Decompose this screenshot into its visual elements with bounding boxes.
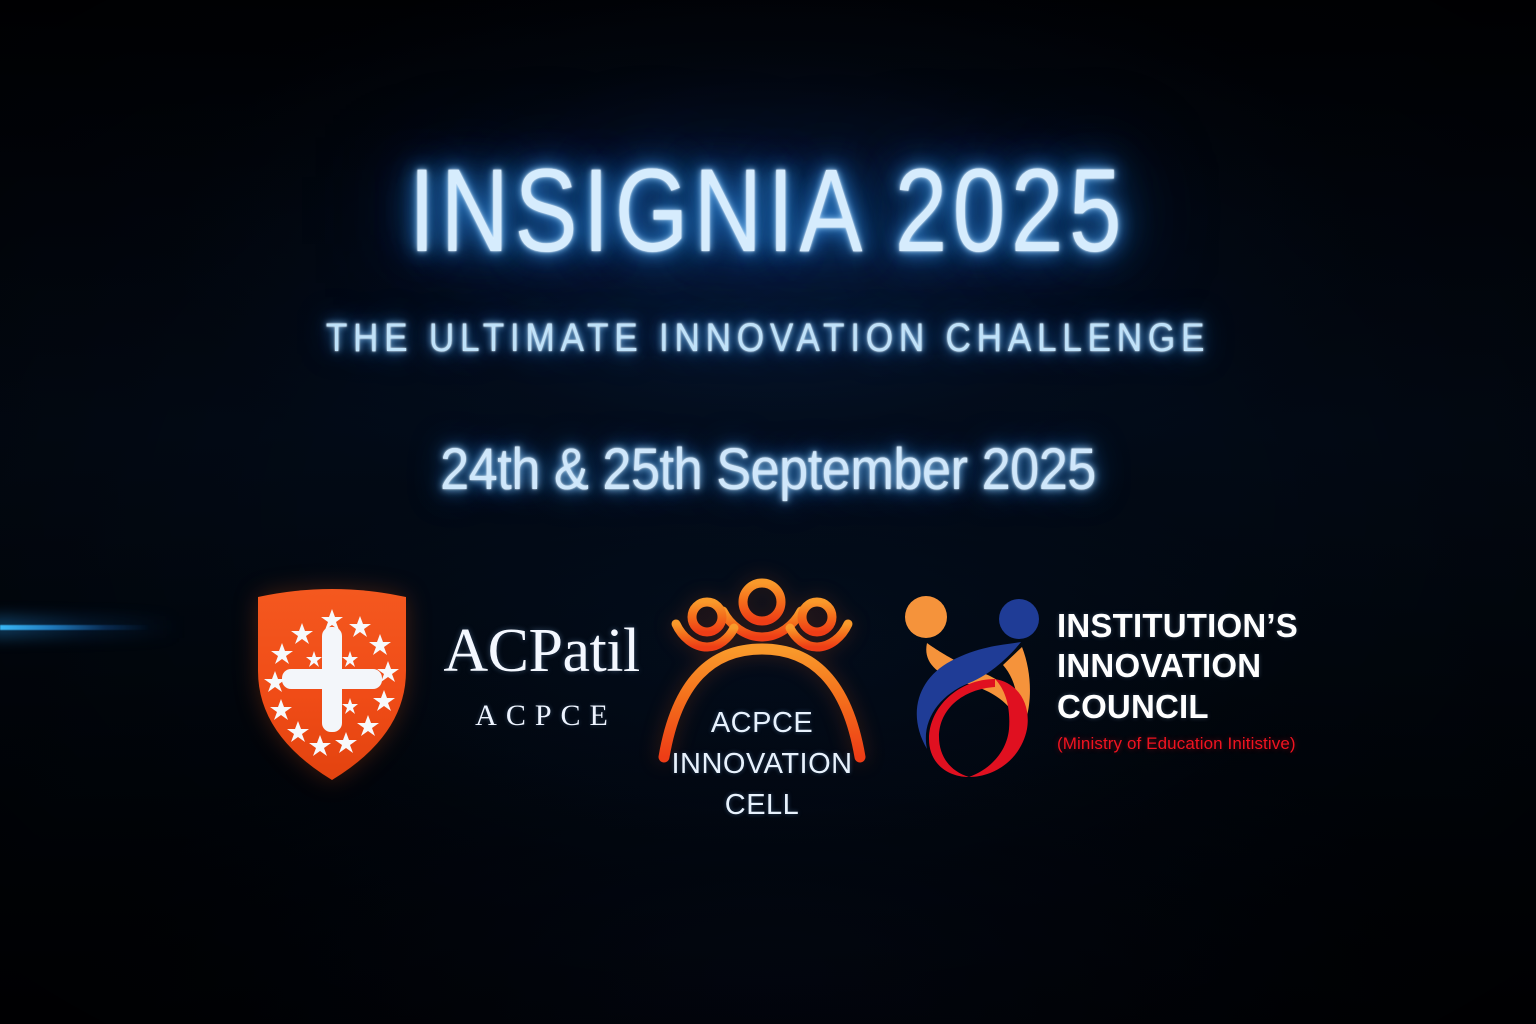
title-block: INSIGNIA 2025 (0, 150, 1536, 274)
iic-swoosh-icon (891, 587, 1051, 777)
date-block: 24th & 25th September 2025 (0, 436, 1536, 503)
acpatil-abbreviation: ACPCE (475, 699, 617, 733)
innovation-cell-line-1: ACPCE (657, 703, 867, 744)
subtitle-block: THE ULTIMATE INNOVATION CHALLENGE (0, 316, 1536, 361)
innovation-cell-text: ACPCE INNOVATION CELL (657, 703, 867, 827)
event-poster: INSIGNIA 2025 THE ULTIMATE INNOVATION CH… (0, 0, 1536, 1024)
innovation-cell-line-2: INNOVATION (657, 744, 867, 785)
council-line-2: INNOVATION (1057, 646, 1298, 686)
council-ministry-note: (Ministry of Education Initistive) (1057, 734, 1298, 754)
acpatil-wordmark-logo: ACPatil ACPCE (434, 620, 649, 733)
page-subtitle: THE ULTIMATE INNOVATION CHALLENGE (92, 316, 1444, 361)
event-date: 24th & 25th September 2025 (77, 436, 1459, 503)
council-line-1: INSTITUTION’S (1057, 606, 1298, 646)
acpce-shield-logo (248, 575, 416, 790)
innovation-cell-line-3: CELL (657, 785, 867, 826)
page-title: INSIGNIA 2025 (154, 150, 1383, 274)
council-text-block: INSTITUTION’S INNOVATION COUNCIL (Minist… (1057, 606, 1298, 758)
acpce-innovation-cell-logo: ACPCE INNOVATION CELL (657, 575, 867, 825)
sponsor-logo-row: ACPatil ACPCE (0, 575, 1536, 825)
shield-icon (248, 575, 416, 790)
council-line-3: COUNCIL (1057, 687, 1298, 727)
institutions-innovation-council-logo: INSTITUTION’S INNOVATION COUNCIL (Minist… (891, 587, 1298, 777)
iic-emblem (891, 587, 1051, 777)
acpatil-name: ACPatil (443, 620, 639, 682)
